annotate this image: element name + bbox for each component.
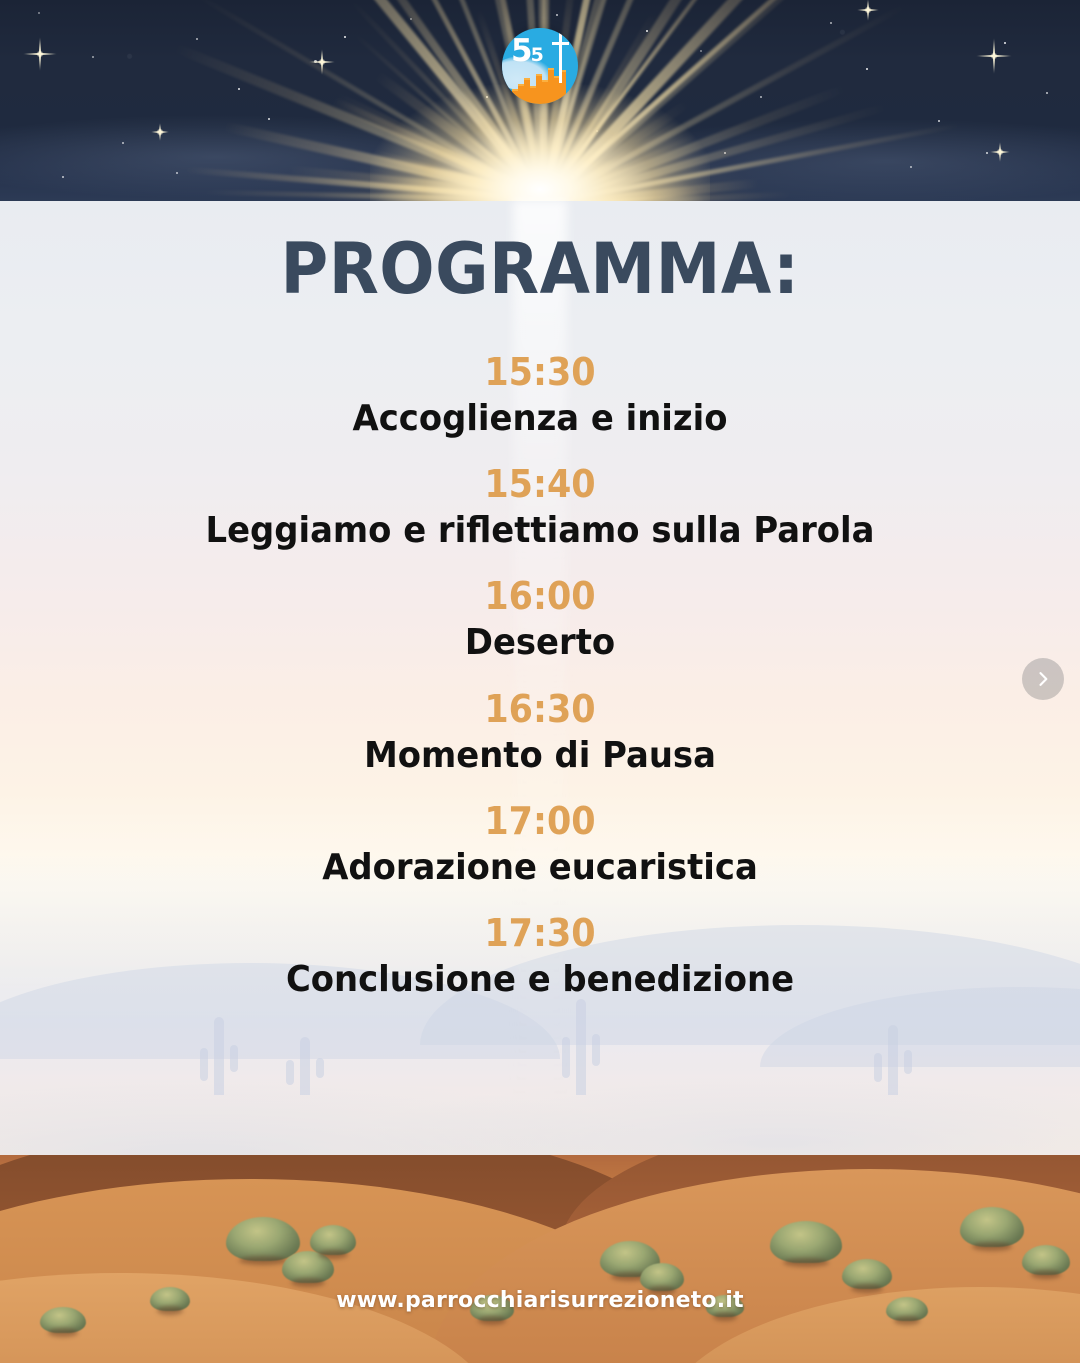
schedule-list: 15:30Accoglienza e inizio15:40Leggiamo e… <box>0 352 1080 1025</box>
star-dot <box>830 22 832 24</box>
sparkle-star-icon <box>151 123 169 141</box>
star-dot <box>62 176 64 178</box>
poster: 55 PROGRAMMA: 15:30Accoglienza e inizio1… <box>0 0 1080 1363</box>
sparkle-star-icon <box>23 37 57 71</box>
star-dot <box>122 142 124 144</box>
cross-icon <box>559 31 562 83</box>
schedule-item-time: 15:30 <box>43 352 1037 393</box>
star-dot <box>238 88 240 90</box>
star-dot <box>38 12 40 14</box>
sparkle-star-icon <box>990 142 1010 162</box>
desert-shrub <box>640 1263 684 1291</box>
star-dot <box>344 36 346 38</box>
schedule-item-label: Adorazione eucaristica <box>32 846 1047 889</box>
page-title: PROGRAMMA: <box>38 228 1042 310</box>
star-dot <box>910 166 912 168</box>
star-dot <box>176 172 178 174</box>
anniversary-logo: 55 <box>502 28 578 104</box>
schedule-item-time: 16:00 <box>43 576 1037 617</box>
website-url[interactable]: www.parrocchiarisurrezioneto.it <box>0 1288 1080 1313</box>
star-dot <box>760 96 762 98</box>
desert-shrub <box>226 1217 300 1261</box>
next-slide-button[interactable] <box>1022 658 1064 700</box>
schedule-item-time: 15:40 <box>43 464 1037 505</box>
star-dot <box>986 152 988 154</box>
schedule-item-label: Leggiamo e riflettiamo sulla Parola <box>32 509 1047 552</box>
schedule-item: 16:30Momento di Pausa <box>0 689 1080 777</box>
star-dot <box>92 56 94 58</box>
desert-shrub <box>770 1221 842 1263</box>
desert-shrub <box>842 1259 892 1289</box>
desert-shrub <box>310 1225 356 1255</box>
schedule-item: 17:00Adorazione eucaristica <box>0 801 1080 889</box>
schedule-item-label: Conclusione e benedizione <box>32 958 1047 1001</box>
schedule-item-label: Accoglienza e inizio <box>32 397 1047 440</box>
star-dot <box>1046 92 1048 94</box>
schedule-item: 15:30Accoglienza e inizio <box>0 352 1080 440</box>
cactus-silhouette <box>214 1017 224 1095</box>
schedule-item-time: 17:30 <box>43 913 1037 954</box>
desert-shrub <box>960 1207 1024 1247</box>
cactus-silhouette <box>888 1025 898 1095</box>
cactus-silhouette <box>300 1037 310 1095</box>
chevron-right-icon <box>1033 669 1053 689</box>
schedule-item-label: Deserto <box>32 621 1047 664</box>
logo-number: 55 <box>511 36 542 67</box>
desert-foreground <box>0 1155 1080 1363</box>
star-dot <box>196 38 198 40</box>
schedule-item-time: 16:30 <box>43 689 1037 730</box>
schedule-item-time: 17:00 <box>43 801 1037 842</box>
schedule-item: 16:00Deserto <box>0 576 1080 664</box>
schedule-item: 17:30Conclusione e benedizione <box>0 913 1080 1001</box>
sparkle-star-icon <box>976 38 1012 74</box>
desert-shrub <box>1022 1245 1070 1275</box>
star-dot <box>866 68 868 70</box>
star-dot <box>268 118 270 120</box>
schedule-item: 15:40Leggiamo e riflettiamo sulla Parola <box>0 464 1080 552</box>
schedule-item-label: Momento di Pausa <box>32 734 1047 777</box>
star-dot <box>556 14 558 16</box>
star-dot <box>938 120 940 122</box>
star-dot <box>700 50 702 52</box>
